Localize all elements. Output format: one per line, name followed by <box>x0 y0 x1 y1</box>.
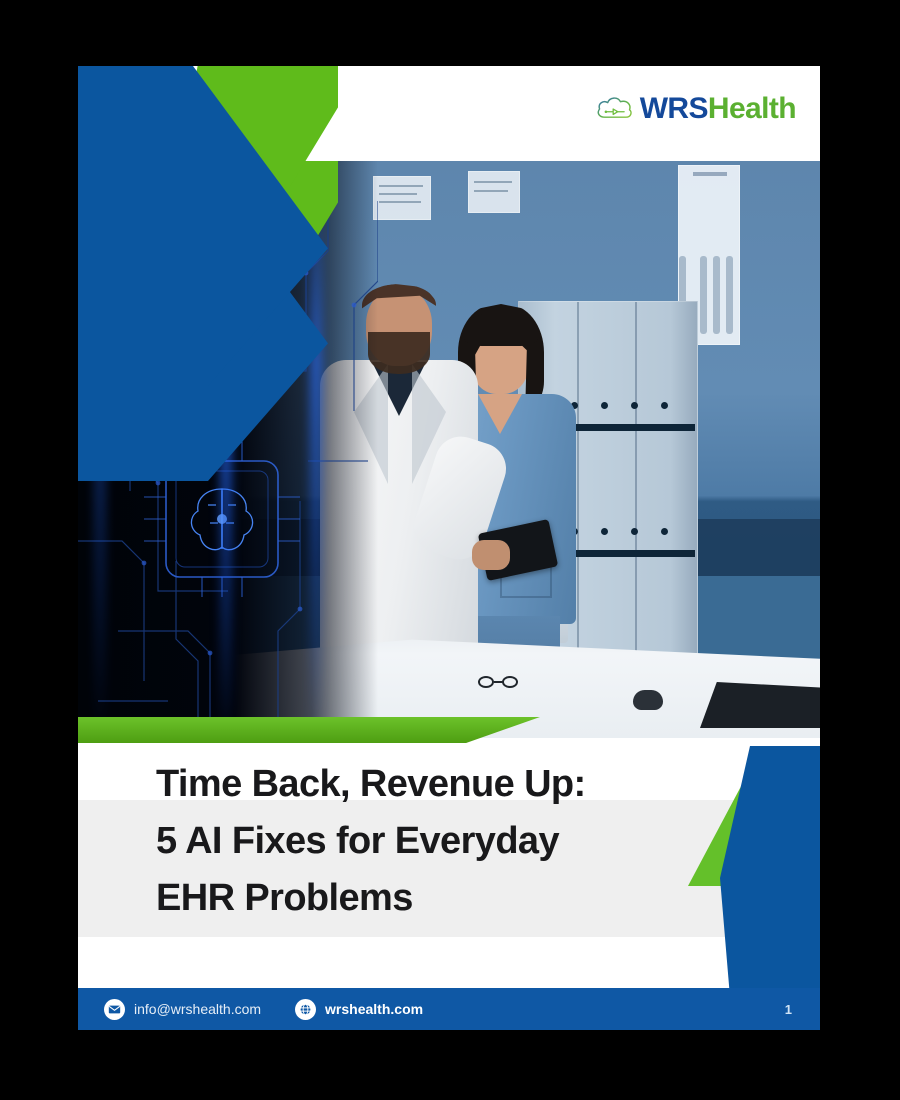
globe-icon <box>295 999 316 1020</box>
envelope-icon <box>104 999 125 1020</box>
wrs-health-logo[interactable]: WRSHealth <box>595 94 796 124</box>
footer-website-text: wrshealth.com <box>325 1001 423 1017</box>
title-line-2: 5 AI Fixes for Everyday <box>156 813 626 870</box>
cloud-plug-icon <box>595 94 635 124</box>
computer-mouse <box>633 690 663 710</box>
page-title: Time Back, Revenue Up: 5 AI Fixes for Ev… <box>156 756 626 927</box>
logo-text-wrs: WRS <box>640 92 708 125</box>
keyboard <box>700 682 820 728</box>
wall-notice <box>373 176 431 220</box>
page-number: 1 <box>785 1002 792 1017</box>
footer-email-text: info@wrshealth.com <box>134 1001 261 1017</box>
cover-page: WRSHealth <box>78 66 820 1030</box>
logo-text-health: Health <box>708 92 796 125</box>
page-footer: info@wrshealth.com wrshealth.com 1 <box>78 988 820 1030</box>
footer-website[interactable]: wrshealth.com <box>295 999 423 1020</box>
footer-email[interactable]: info@wrshealth.com <box>104 999 261 1020</box>
wall-notice <box>468 171 520 213</box>
title-line-3: EHR Problems <box>156 870 626 927</box>
title-line-1: Time Back, Revenue Up: <box>156 756 626 813</box>
green-divider-band <box>78 717 540 743</box>
eyeglasses <box>478 676 534 690</box>
